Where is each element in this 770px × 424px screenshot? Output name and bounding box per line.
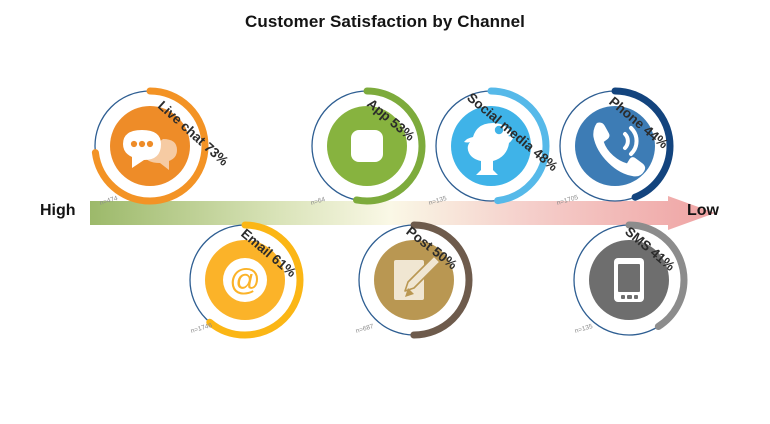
donut-email[interactable]: @Email 61%n=1746	[181, 216, 309, 344]
donut-app[interactable]: App 53%n=64	[303, 82, 431, 210]
donut-post[interactable]: Post 50%n=687	[350, 216, 478, 344]
donut-social-media[interactable]: Social media 48%n=135	[427, 82, 555, 210]
donut-live-chat[interactable]: Live chat 73%n=474	[86, 82, 214, 210]
donut-sms[interactable]: SMS 41%n=135	[565, 216, 693, 344]
page-title: Customer Satisfaction by Channel	[0, 12, 770, 32]
axis-label-high: High	[40, 202, 76, 220]
infographic-canvas: Customer Satisfaction by Channel High Lo…	[0, 0, 770, 424]
svg-text:@: @	[229, 262, 260, 297]
donut-phone[interactable]: Phone 44%n=1705	[551, 82, 679, 210]
